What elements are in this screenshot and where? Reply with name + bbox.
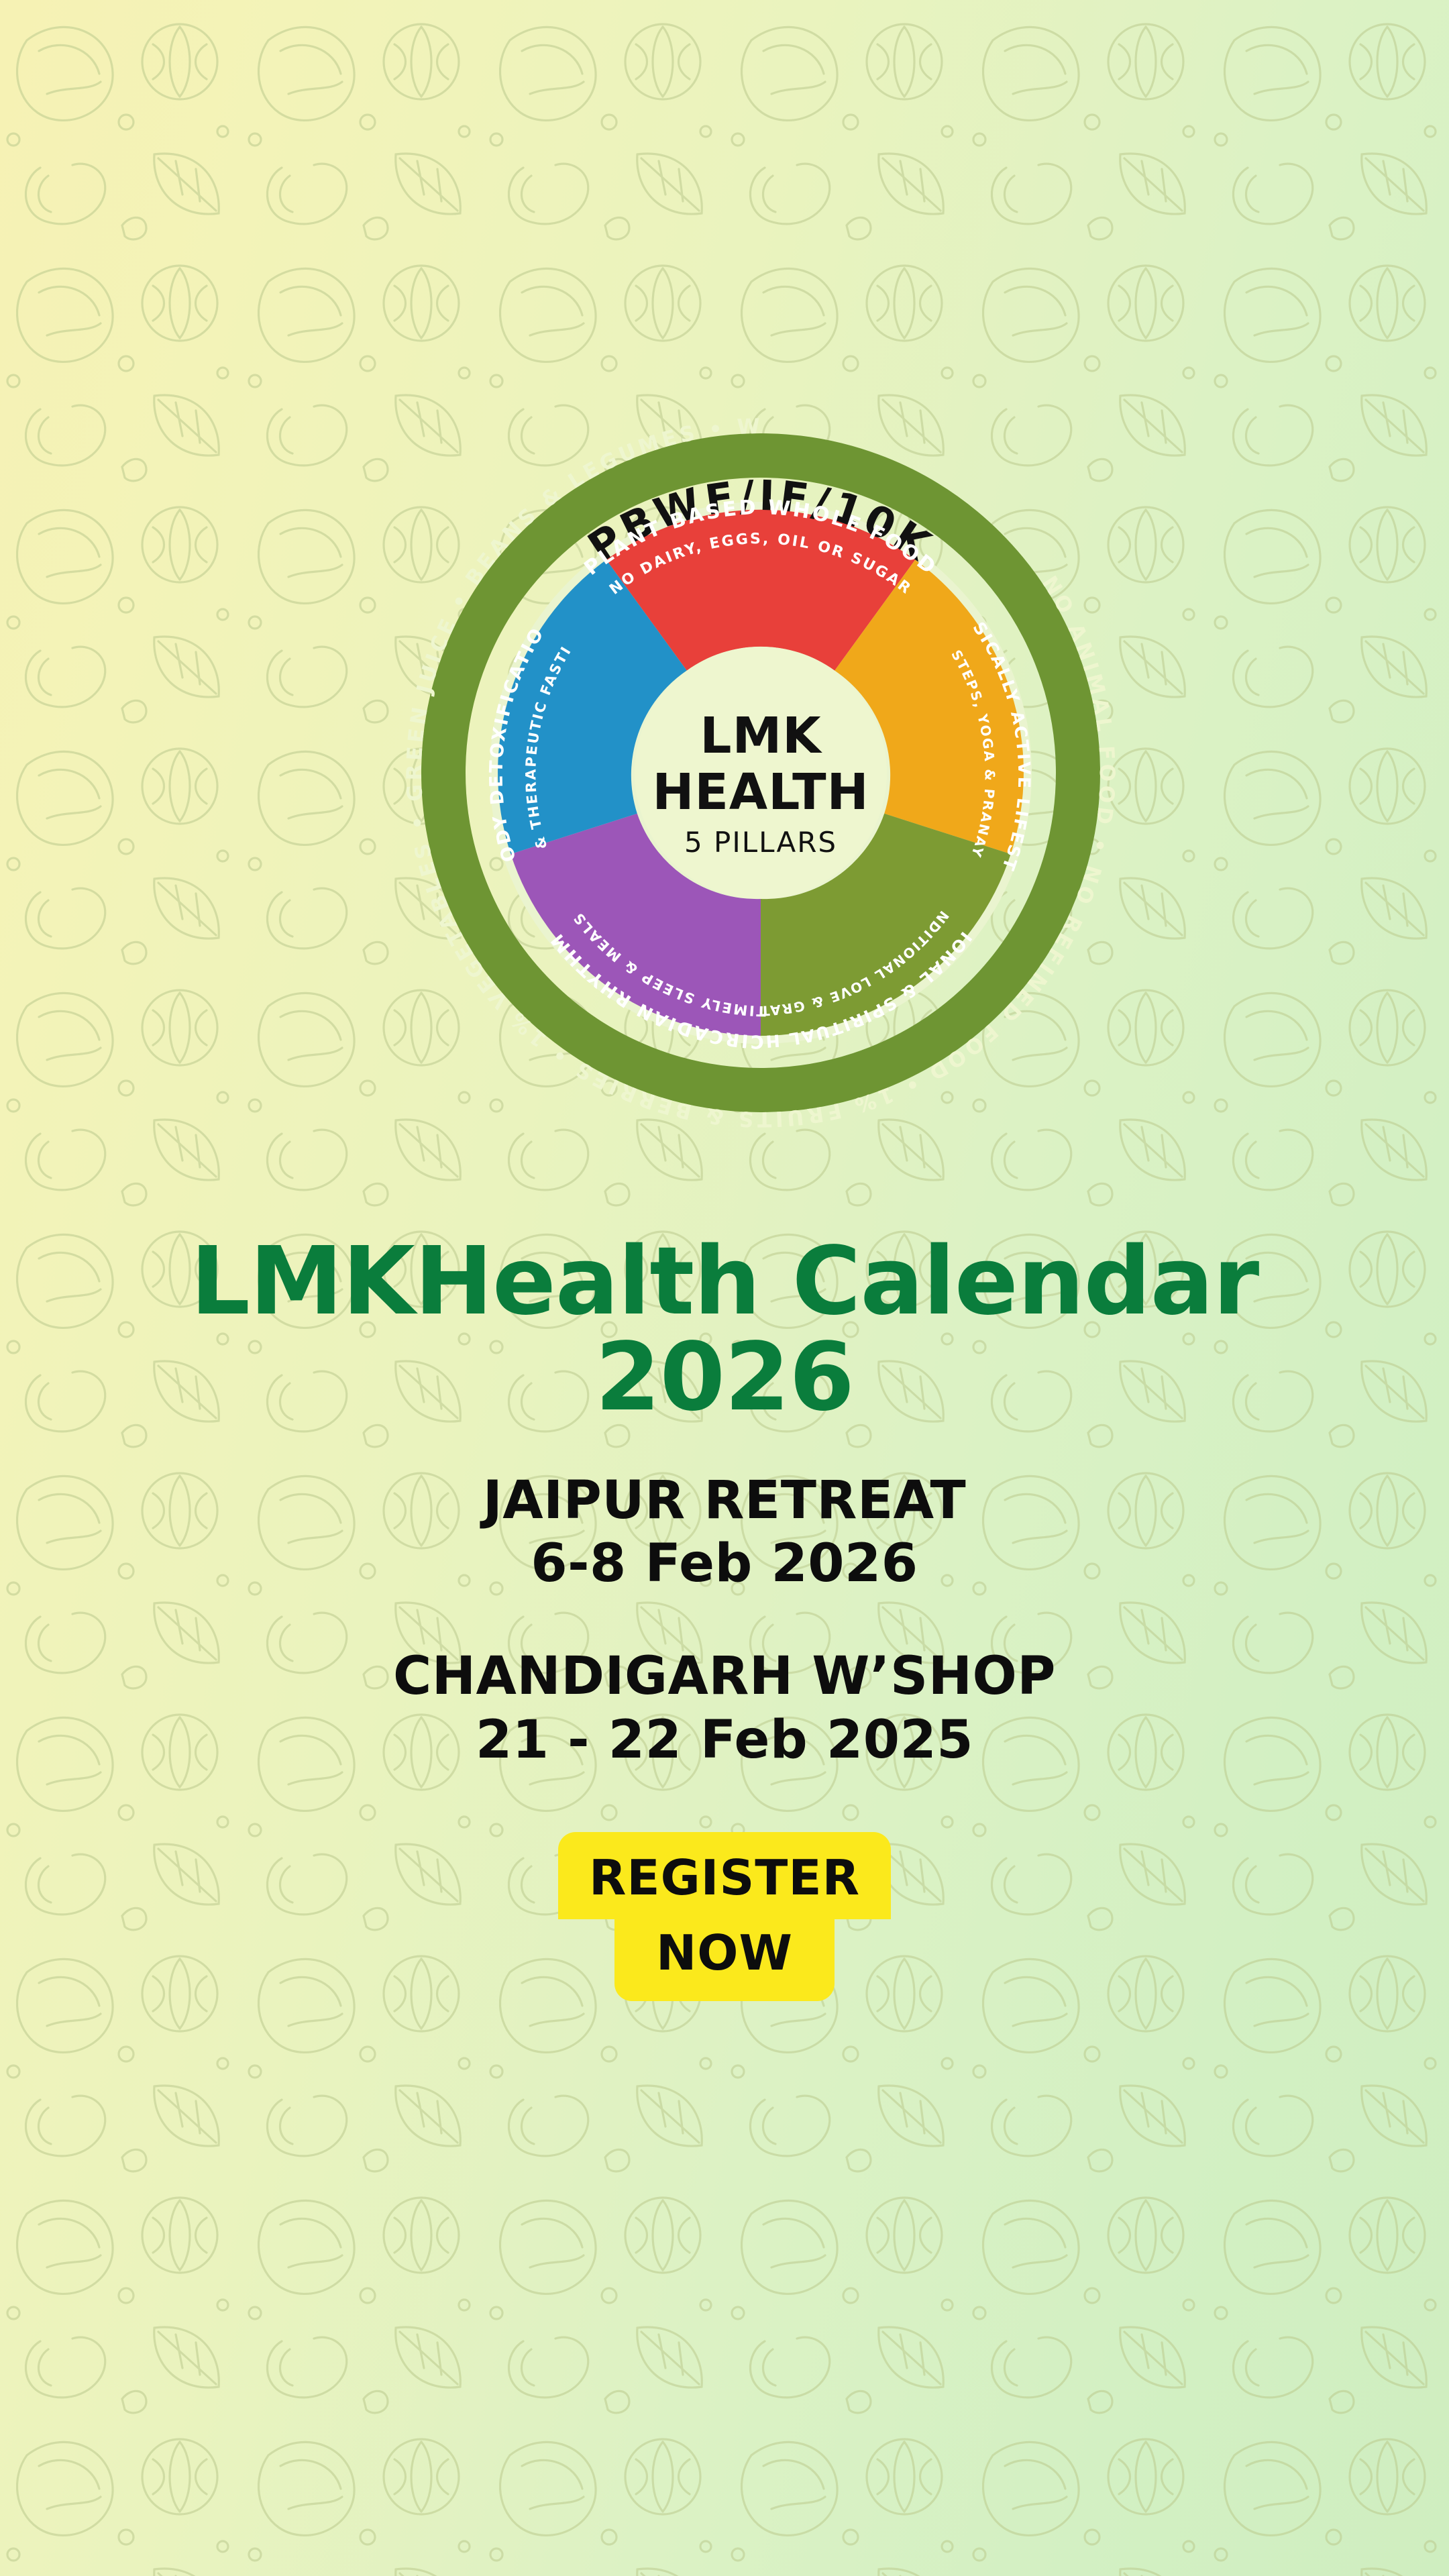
event-date: 21 - 22 Feb 2025 <box>0 1707 1449 1774</box>
event-jaipur-retreat: JAIPUR RETREAT 6-8 Feb 2026 <box>0 1472 1449 1599</box>
event-place: CHANDIGARH W’SHOP <box>0 1648 1449 1706</box>
event-chandigarh-workshop: CHANDIGARH W’SHOP 21 - 22 Feb 2025 <box>0 1648 1449 1774</box>
wheel-center-title-line2: HEALTH <box>652 763 869 821</box>
poster-content: LMKHealth Calendar 2026 JAIPUR RETREAT 6… <box>0 1234 1449 2001</box>
event-place: JAIPUR RETREAT <box>0 1472 1449 1530</box>
register-now-button[interactable]: REGISTER NOW <box>558 1832 891 2001</box>
page-title-line2: 2026 <box>80 1330 1368 1426</box>
lmk-health-five-pillars-wheel: NO ANIMAL FOOD • NO REFINED FOOD • 1% FR… <box>368 380 1154 1166</box>
wheel-center-title-line1: LMK <box>700 707 822 765</box>
event-date: 6-8 Feb 2026 <box>0 1530 1449 1598</box>
wheel-center-subtitle: 5 PILLARS <box>684 826 837 859</box>
poster-root: NO ANIMAL FOOD • NO REFINED FOOD • 1% FR… <box>0 0 1449 2576</box>
title-spacer <box>0 1426 1449 1472</box>
register-button-label-line2[interactable]: NOW <box>614 1919 834 2001</box>
page-title-line1: LMKHealth Calendar <box>191 1227 1258 1336</box>
event-spacer <box>0 1598 1449 1648</box>
register-button-label-line1[interactable]: REGISTER <box>558 1832 891 1919</box>
page-title: LMKHealth Calendar 2026 <box>0 1234 1449 1426</box>
